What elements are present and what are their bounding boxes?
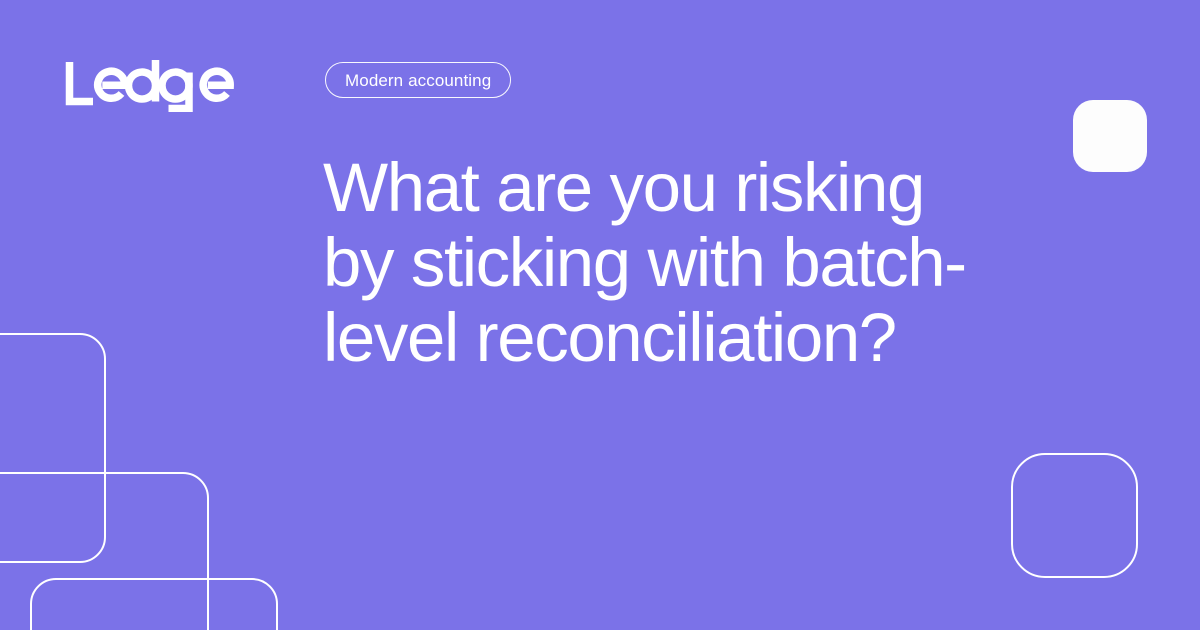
badge-label: Modern accounting — [345, 72, 491, 89]
ledge-wordmark-icon — [64, 52, 234, 112]
badge-modern-accounting[interactable]: Modern accounting — [325, 62, 511, 98]
social-card: Modern accounting What are you risking b… — [0, 0, 1200, 630]
headline-line-3: level reconciliation? — [323, 300, 1113, 375]
ledge-logo[interactable] — [64, 52, 234, 112]
outlined-rounded-square-icon — [1011, 453, 1138, 578]
staircase-step-2-icon — [0, 472, 209, 630]
headline-line-2: by sticking with batch- — [323, 225, 1113, 300]
card-header: Modern accounting — [0, 0, 1200, 160]
page-title: What are you risking by sticking with ba… — [323, 150, 1113, 375]
headline-line-1: What are you risking — [323, 150, 1113, 225]
staircase-step-1-icon — [0, 333, 106, 563]
staircase-step-3-icon — [30, 578, 278, 630]
